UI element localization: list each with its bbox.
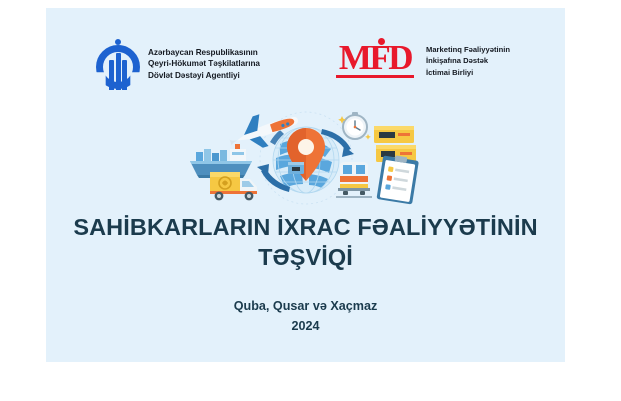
logo-ango-line-3: Dövlət Dəstəyi Agentliyi bbox=[148, 71, 240, 80]
logo-row: Azərbaycan Respublikasının Qeyri-Hökumət… bbox=[46, 36, 565, 98]
parcel-small-icon bbox=[288, 162, 304, 174]
page-title: SAHİBKARLARIN İXRAC FƏALİYYƏTİNİN TƏŞVİQ… bbox=[46, 213, 565, 272]
page-title-line-2: TƏŞVİQİ bbox=[258, 244, 353, 270]
logo-mfd-line-2: İnkişafına Dəstək bbox=[426, 56, 488, 65]
train-icon bbox=[336, 162, 372, 198]
logo-mfd-line-1: Marketinq Fəaliyyətinin bbox=[426, 45, 510, 54]
logo-ango-line-1: Azərbaycan Respublikasının bbox=[148, 48, 258, 57]
page-subtitle: Quba, Qusar və Xaçmaz 2024 bbox=[46, 296, 565, 336]
title-slide: Azərbaycan Respublikasının Qeyri-Hökumət… bbox=[46, 8, 565, 362]
logo-mfd: MFD Marketinq Fəaliyyətinin İnkişafına D… bbox=[334, 38, 510, 84]
export-logistics-illustration bbox=[176, 108, 436, 208]
mfd-wordmark-icon: MFD bbox=[334, 38, 416, 84]
mfd-underline-rule bbox=[336, 75, 414, 78]
stopwatch-icon bbox=[338, 112, 371, 140]
logo-ango-line-2: Qeyri-Hökumət Təşkilatlarına bbox=[148, 59, 260, 68]
logo-mfd-line-3: İctimai Birliyi bbox=[426, 68, 473, 77]
parcel-boxes-icon bbox=[374, 126, 416, 162]
mfd-dot-icon bbox=[378, 38, 385, 45]
subtitle-locations: Quba, Qusar və Xaçmaz bbox=[234, 299, 378, 313]
logo-ango: Azərbaycan Respublikasının Qeyri-Hökumət… bbox=[96, 38, 260, 90]
logo-ango-text: Azərbaycan Respublikasının Qeyri-Hökumət… bbox=[148, 47, 260, 82]
logo-mfd-text: Marketinq Fəaliyyətinin İnkişafına Dəstə… bbox=[426, 44, 510, 78]
mfd-wordmark-text: MFD bbox=[334, 40, 416, 75]
clipboard-checklist-icon bbox=[376, 153, 419, 204]
ango-emblem-icon bbox=[96, 38, 140, 90]
subtitle-year: 2024 bbox=[46, 316, 565, 336]
delivery-truck-icon bbox=[210, 172, 257, 200]
page-title-line-1: SAHİBKARLARIN İXRAC FƏALİYYƏTİNİN bbox=[73, 214, 537, 240]
